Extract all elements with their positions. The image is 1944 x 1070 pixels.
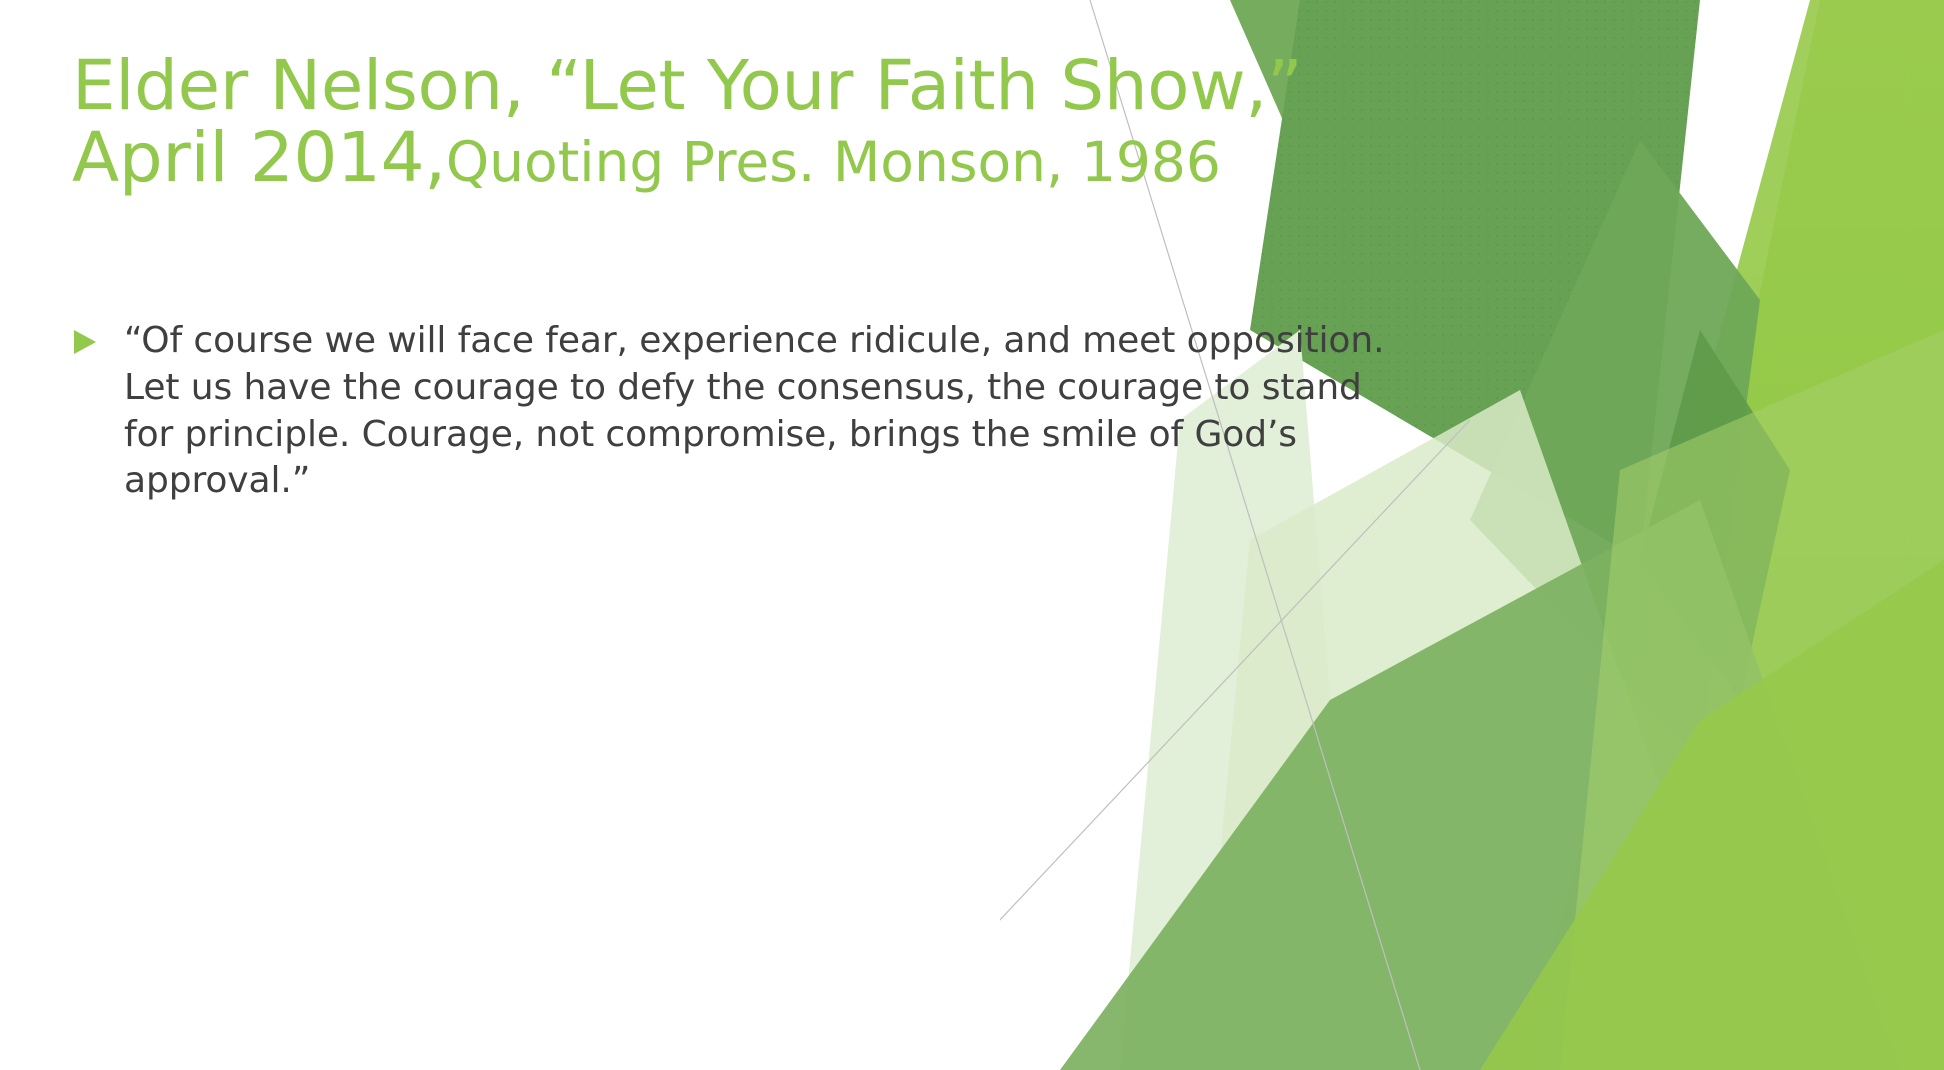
title-line-2: April 2014,Quoting Pres. Monson, 1986 [72, 122, 1372, 194]
facet-shape-lime-lower [1480, 560, 1944, 1070]
title-line-2-sub: Quoting Pres. Monson, 1986 [446, 130, 1221, 194]
bullet-list-item: “Of course we will face fear, experience… [72, 318, 1402, 505]
title-line-1: Elder Nelson, “Let Your Faith Show,” [72, 50, 1372, 122]
facet-shape-lime-right [1600, 0, 1944, 1070]
slide-title: Elder Nelson, “Let Your Faith Show,” Apr… [72, 50, 1372, 195]
slide-canvas: Elder Nelson, “Let Your Faith Show,” Apr… [0, 0, 1944, 1070]
facet-shape-green-mid [1470, 140, 1760, 760]
quote-paragraph: “Of course we will face fear, experience… [124, 318, 1402, 505]
facet-shape-green-lower [1060, 500, 1900, 1070]
title-line-2-main: April 2014, [72, 118, 446, 198]
slide-body: “Of course we will face fear, experience… [72, 318, 1402, 505]
triangle-right-bullet-icon [72, 318, 124, 356]
facet-shape-lime-band [1520, 0, 1944, 1070]
facet-hairline-diagonal [1000, 420, 1470, 1070]
facet-shape-light-overlay [1560, 330, 1944, 1070]
facet-shape-green-deep [1640, 330, 1790, 700]
